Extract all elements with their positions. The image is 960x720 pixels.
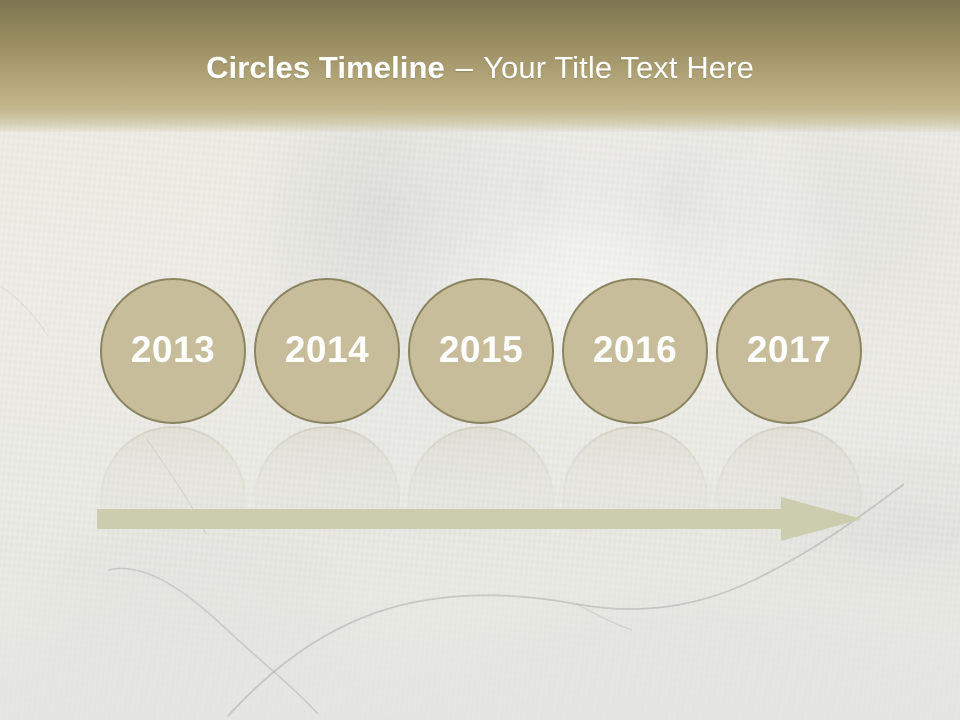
timeline-circle-2015[interactable]: 2015 — [408, 278, 554, 424]
slide-canvas: Circles Timeline – Your Title Text Here … — [0, 0, 960, 720]
circle-reflection — [100, 426, 246, 542]
circle-reflections — [100, 426, 862, 542]
timeline-circle-2017[interactable]: 2017 — [716, 278, 862, 424]
timeline-circle-2013[interactable]: 2013 — [100, 278, 246, 424]
timeline-circle-label: 2016 — [593, 329, 677, 371]
page-title: Circles Timeline – Your Title Text Here — [0, 49, 960, 87]
timeline-circle-label: 2015 — [439, 329, 523, 371]
circle-reflection — [254, 426, 400, 542]
timeline-circles: 2013 2014 2015 2016 2017 — [100, 278, 862, 426]
timeline-circle-label: 2013 — [131, 329, 215, 371]
timeline-circle-label: 2017 — [747, 329, 831, 371]
circle-reflection — [562, 426, 708, 542]
circle-reflection — [408, 426, 554, 542]
timeline-circle-2014[interactable]: 2014 — [254, 278, 400, 424]
page-title-separator: – — [454, 50, 475, 85]
timeline-circle-2016[interactable]: 2016 — [562, 278, 708, 424]
background-lower-wash — [0, 540, 960, 720]
circle-reflection — [716, 426, 862, 542]
page-title-strong: Circles Timeline — [206, 50, 445, 85]
timeline-circle-label: 2014 — [285, 329, 369, 371]
page-title-light: Your Title Text Here — [483, 50, 754, 85]
